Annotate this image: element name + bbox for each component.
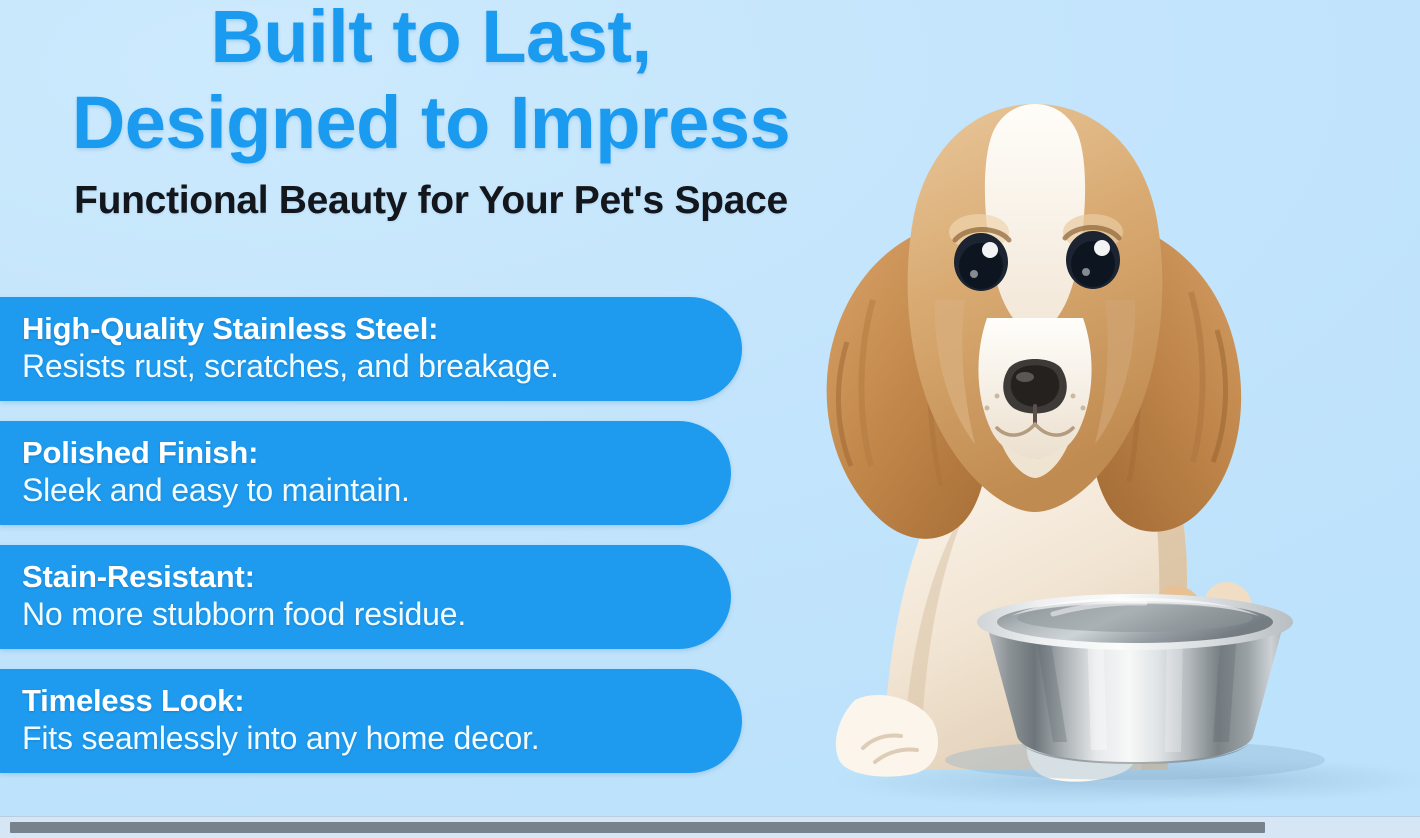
horizontal-scrollbar[interactable]	[0, 816, 1420, 838]
feature-description: No more stubborn food residue.	[22, 595, 705, 633]
feature-list: High-Quality Stainless Steel: Resists ru…	[0, 297, 742, 793]
feature-description: Fits seamlessly into any home decor.	[22, 719, 716, 757]
feature-description: Resists rust, scratches, and breakage.	[22, 347, 716, 385]
feature-pill: Polished Finish: Sleek and easy to maint…	[0, 421, 731, 525]
feature-pill: Timeless Look: Fits seamlessly into any …	[0, 669, 742, 773]
headline-line-2: Designed to Impress	[0, 80, 862, 166]
headline-block: Built to Last, Designed to Impress Funct…	[0, 0, 862, 223]
headline-line-1: Built to Last,	[0, 0, 862, 80]
feature-title: Stain-Resistant:	[22, 559, 705, 595]
scrollbar-thumb[interactable]	[10, 822, 1265, 833]
subtitle: Functional Beauty for Your Pet's Space	[0, 180, 862, 223]
feature-pill: High-Quality Stainless Steel: Resists ru…	[0, 297, 742, 401]
feature-description: Sleek and easy to maintain.	[22, 471, 705, 509]
feature-title: High-Quality Stainless Steel:	[22, 311, 716, 347]
feature-title: Timeless Look:	[22, 683, 716, 719]
product-feature-banner: Built to Last, Designed to Impress Funct…	[0, 0, 1420, 838]
feature-pill: Stain-Resistant: No more stubborn food r…	[0, 545, 731, 649]
feature-title: Polished Finish:	[22, 435, 705, 471]
